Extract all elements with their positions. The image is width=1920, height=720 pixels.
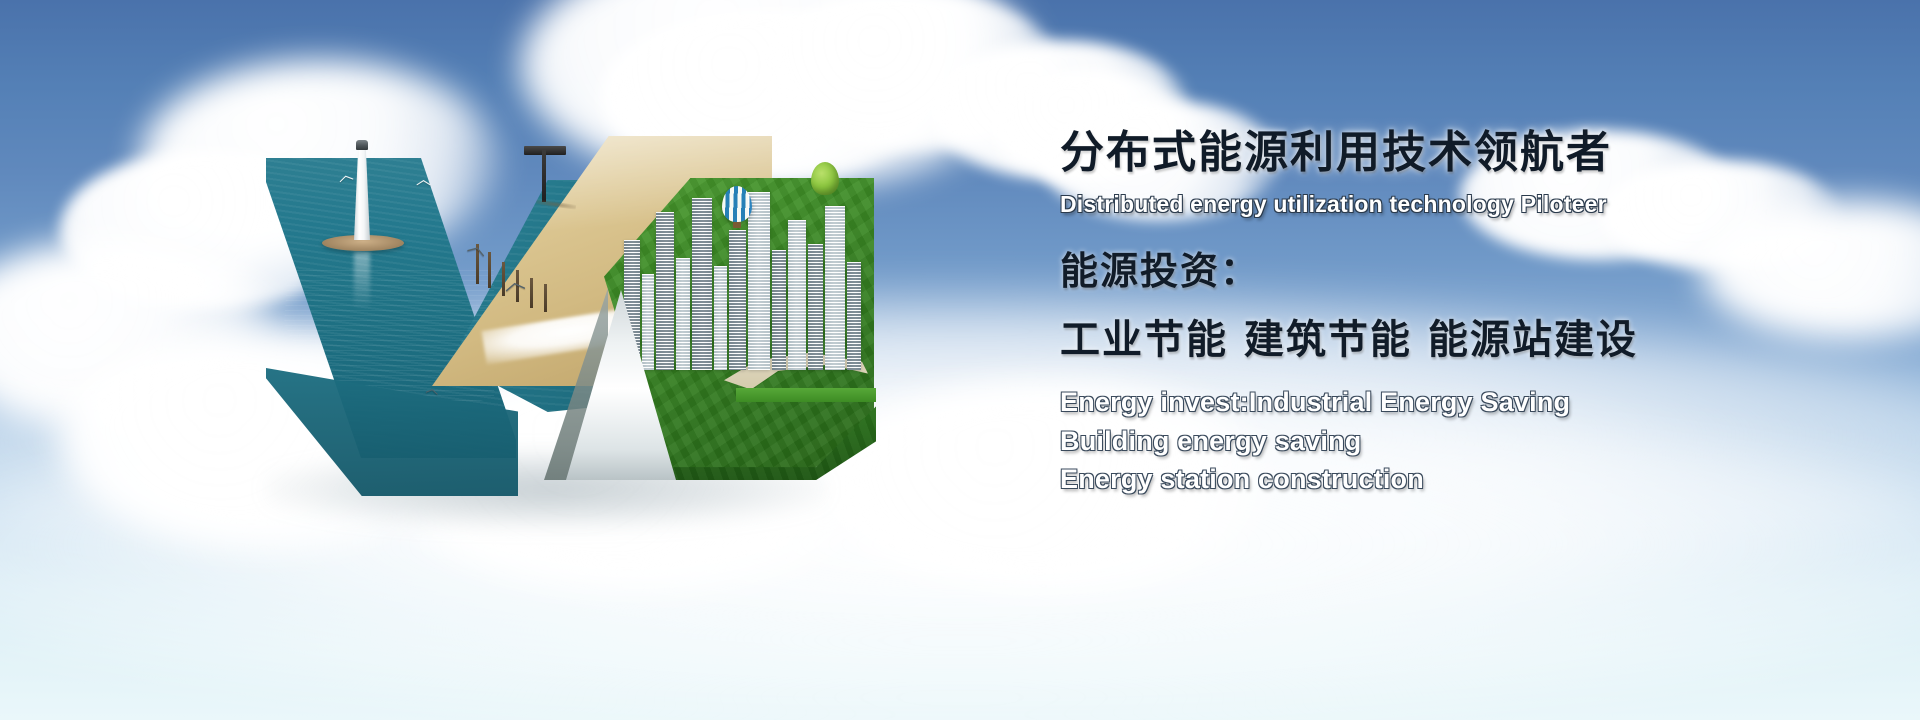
grass-balloon-icon <box>811 162 839 195</box>
skyscraper <box>748 192 770 370</box>
seagull-icon: ︿ <box>466 236 490 260</box>
services-english-list: Energy invest:Industrial Energy Saving B… <box>1060 383 1760 498</box>
balloon-basket-icon <box>733 222 741 228</box>
skyscraper <box>808 244 823 370</box>
lighthouse-lamp-icon <box>356 140 368 150</box>
hot-air-balloon-icon <box>722 186 752 222</box>
services-chinese: 工业节能 建筑节能 能源站建设 <box>1060 307 1760 365</box>
subtitle-english: Distributed energy utilization technolog… <box>1060 191 1760 218</box>
lighthouse-reflection <box>354 252 370 310</box>
beach-pole <box>488 252 491 288</box>
skyscraper <box>656 212 674 370</box>
skyscraper <box>825 206 845 370</box>
services-english-line: Energy station construction <box>1060 460 1760 498</box>
skyscraper <box>692 198 712 370</box>
skyscraper <box>642 274 654 370</box>
seagull-icon: ︿ <box>416 172 431 187</box>
skyscraper <box>788 220 806 370</box>
headline-chinese: 分布式能源利用技术领航者 <box>1060 128 1760 177</box>
services-english-line: Building energy saving <box>1060 422 1760 460</box>
hero-artwork-w: ︿ ︿ ︿ ︿ ︿ <box>236 120 876 520</box>
skyscraper <box>847 262 861 370</box>
grass-rim <box>736 388 876 402</box>
seagull-icon: ︿ <box>503 271 527 295</box>
beach-pole <box>530 278 533 308</box>
skyscraper <box>676 258 690 370</box>
signpost-icon <box>542 150 546 202</box>
hero-copy: 分布式能源利用技术领航者 Distributed energy utilizat… <box>1060 128 1760 498</box>
hero-banner: ︿ ︿ ︿ ︿ ︿ 分布式能源利用技术领航者 Distributed energ… <box>0 0 1920 720</box>
section-label-chinese: 能源投资： <box>1060 240 1760 295</box>
skyscraper <box>714 266 727 370</box>
skyscraper <box>729 230 746 370</box>
skyscraper <box>772 250 786 370</box>
services-english-line: Energy invest:Industrial Energy Saving <box>1060 383 1760 421</box>
beach-pole <box>544 284 547 312</box>
seagull-icon: ︿ <box>337 167 355 185</box>
seagull-icon: ︿ <box>425 381 440 396</box>
